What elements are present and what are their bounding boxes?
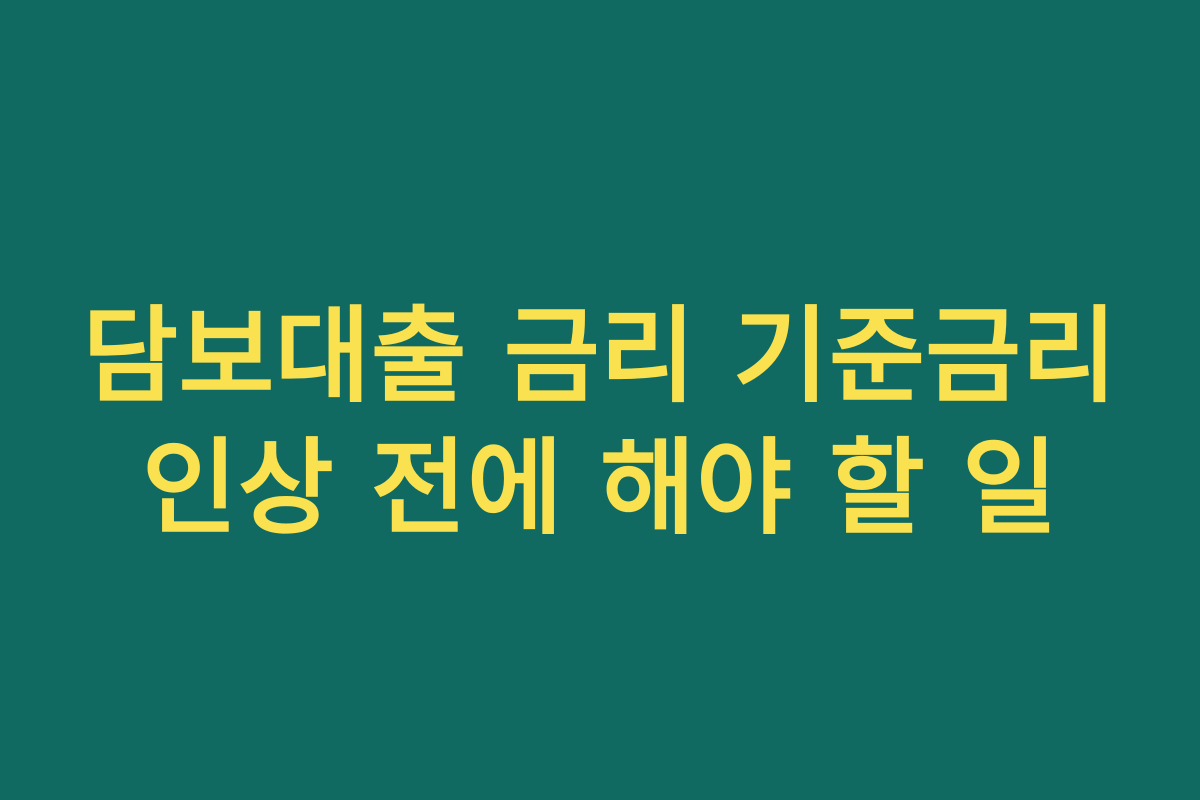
title-banner: 담보대출 금리 기준금리 인상 전에 해야 할 일	[0, 0, 1200, 800]
headline-line-1: 담보대출 금리 기준금리	[0, 290, 1200, 422]
headline-block: 담보대출 금리 기준금리 인상 전에 해야 할 일	[0, 290, 1200, 554]
headline-line-2: 인상 전에 해야 할 일	[0, 422, 1200, 554]
